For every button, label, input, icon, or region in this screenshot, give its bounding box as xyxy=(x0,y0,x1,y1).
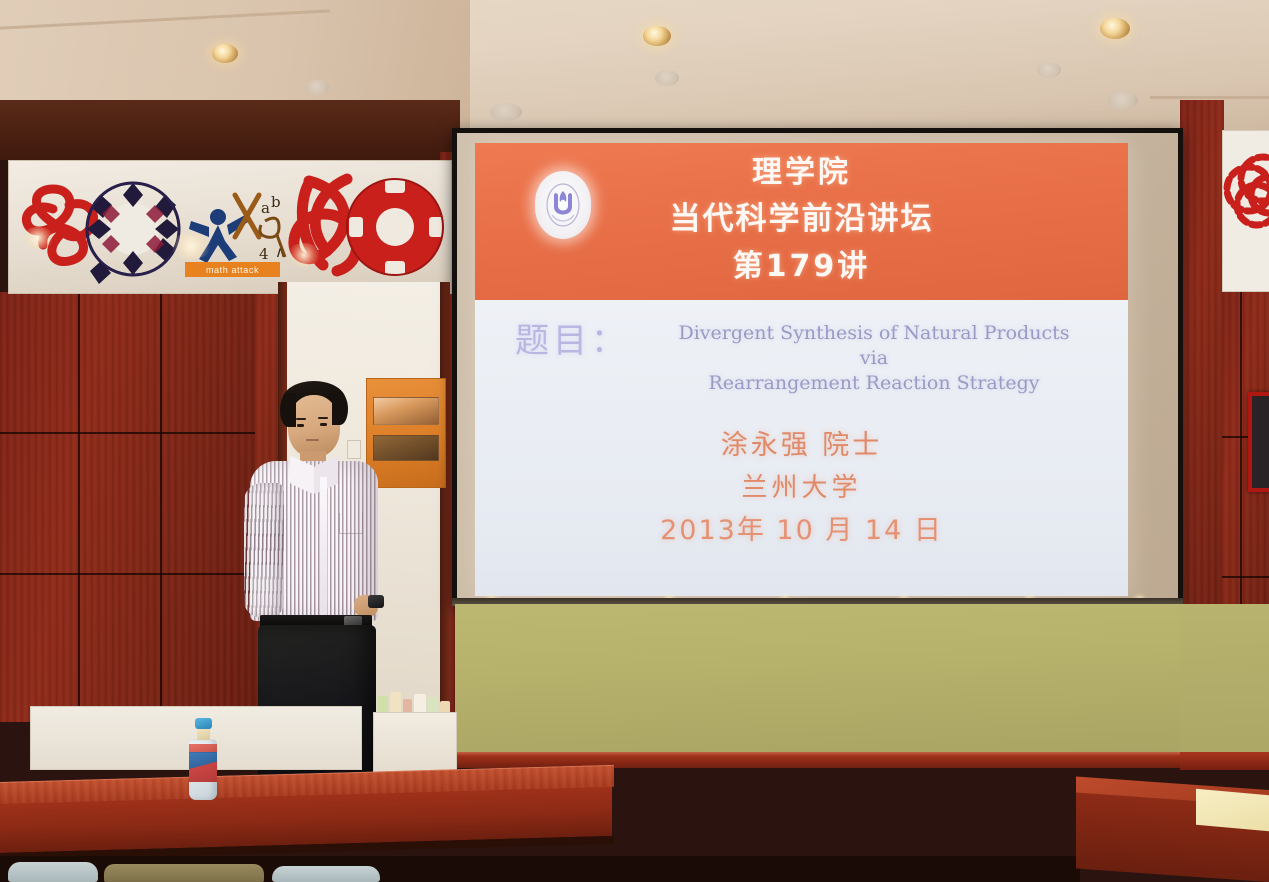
light-reflection xyxy=(169,233,213,259)
subject-text: Divergent Synthesis of Natural Products … xyxy=(629,321,1115,396)
presenter-hair-side xyxy=(332,393,348,425)
slide-speaker-block: 涂永强 院士 兰州大学 2013年 10 月 14 日 xyxy=(475,425,1128,553)
ceiling-downlight-icon xyxy=(643,26,671,46)
presenter-shirt-pocket xyxy=(339,513,363,534)
presenter-left-arm xyxy=(244,483,284,617)
water-bottle xyxy=(186,718,220,800)
presentation-clicker-icon xyxy=(368,595,384,608)
speaker-affiliation: 兰州大学 xyxy=(475,467,1128,509)
riser-panel xyxy=(373,712,457,776)
chair-back xyxy=(8,862,98,882)
ceiling-speaker-icon xyxy=(1037,62,1061,78)
ceiling-seam xyxy=(1150,96,1269,99)
slide-title-line-3: 第179讲 xyxy=(475,243,1128,290)
trefoil-knot-icon xyxy=(26,189,93,262)
projection-screen: 理学院 当代科学前沿讲坛 第179讲 题目： Divergent Synthes… xyxy=(452,128,1183,605)
baseboard xyxy=(1180,752,1269,770)
presenter-hair-side xyxy=(280,393,296,427)
ceiling-speaker-icon xyxy=(305,80,329,95)
lecture-hall-photo: ab 4∧ math at xyxy=(0,0,1269,882)
svg-text:4: 4 xyxy=(259,245,269,263)
ceiling-speaker-icon xyxy=(490,103,522,121)
knot-art-icon xyxy=(1223,131,1269,291)
wood-seam xyxy=(160,292,162,722)
svg-text:a: a xyxy=(261,199,270,217)
alcove-edge xyxy=(440,282,450,714)
presenter-shirt-placket xyxy=(320,477,327,617)
wall-art-panel-right xyxy=(1222,130,1269,292)
wood-seam xyxy=(1222,576,1269,578)
slide-title-line-1: 理学院 xyxy=(475,149,1128,196)
presenter-eye xyxy=(320,423,327,426)
framed-wall-item xyxy=(1248,392,1269,492)
svg-text:b: b xyxy=(271,193,281,211)
slide-title-line-2: 当代科学前沿讲坛 xyxy=(475,196,1128,243)
ceiling-downlight-icon xyxy=(1100,18,1130,39)
bottle-label xyxy=(189,752,217,782)
subject-line-3: Rearrangement Reaction Strategy xyxy=(633,371,1115,396)
lecture-date: 2013年 10 月 14 日 xyxy=(475,509,1128,553)
olive-wall-panel-right xyxy=(1180,604,1269,768)
ceiling-speaker-icon xyxy=(1108,92,1138,109)
ceiling-downlight-icon xyxy=(212,44,238,63)
chair-back xyxy=(272,866,380,882)
documents-on-desk xyxy=(1196,789,1269,831)
bottle-neck xyxy=(197,728,210,740)
subject-line-2: via xyxy=(633,346,1115,371)
torus-pattern-icon xyxy=(87,183,179,284)
subject-line-1: Divergent Synthesis of Natural Products xyxy=(633,321,1115,346)
light-reflection xyxy=(21,227,55,249)
presenter-eye xyxy=(297,424,304,427)
slide-subject-row: 题目： Divergent Synthesis of Natural Produ… xyxy=(515,321,1115,396)
screen-surface: 理学院 当代科学前沿讲坛 第179讲 题目： Divergent Synthes… xyxy=(457,133,1178,600)
projected-slide: 理学院 当代科学前沿讲坛 第179讲 题目： Divergent Synthes… xyxy=(475,143,1128,596)
chair-back xyxy=(104,864,264,882)
olive-wall-panel xyxy=(455,604,1180,758)
presenter-brow xyxy=(296,418,306,420)
banner-label: math attack xyxy=(185,262,280,277)
torus-ring-icon xyxy=(347,179,443,275)
slide-title: 理学院 当代科学前沿讲坛 第179讲 xyxy=(475,149,1128,290)
speaker-name: 涂永强 院士 xyxy=(475,425,1128,467)
presenter-mouth xyxy=(306,439,319,441)
ceiling-speaker-icon xyxy=(655,70,679,86)
wood-seam xyxy=(78,292,80,722)
presenter-brow xyxy=(318,417,328,419)
subject-label: 题目： xyxy=(515,321,629,361)
upper-wall-trim xyxy=(0,100,460,160)
light-reflection xyxy=(287,243,321,267)
bottle-cap xyxy=(195,718,212,729)
